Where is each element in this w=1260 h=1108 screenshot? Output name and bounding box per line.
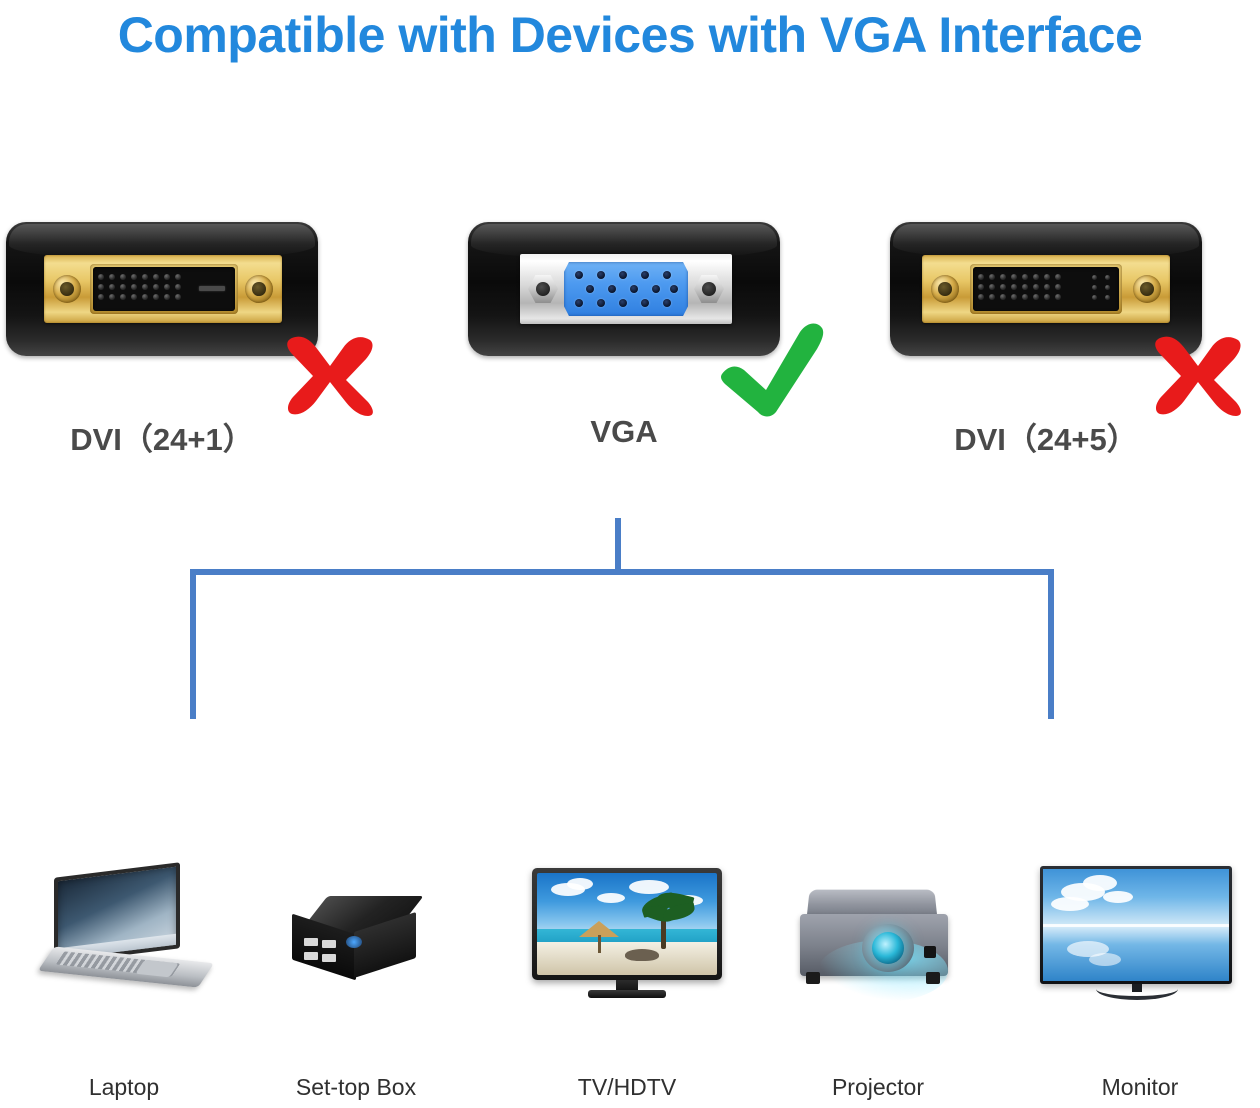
bracket-drop-right bbox=[1048, 569, 1054, 719]
device-laptop bbox=[32, 862, 216, 1002]
vga-dsub-port bbox=[564, 262, 688, 316]
usb-port-1 bbox=[304, 938, 318, 946]
page-title: Compatible with Devices with VGA Interfa… bbox=[0, 6, 1260, 64]
dvi-port bbox=[970, 264, 1122, 314]
tv-image-rock bbox=[625, 949, 659, 961]
device-label-set-top-box: Set-top Box bbox=[254, 1074, 458, 1101]
projector-ir-sensor bbox=[924, 946, 936, 958]
green-check-icon bbox=[716, 322, 826, 418]
device-label-laptop: Laptop bbox=[24, 1074, 224, 1101]
dvi-flange bbox=[922, 255, 1170, 323]
connector-vga: VGA bbox=[468, 222, 780, 356]
monitor-screen bbox=[1043, 869, 1229, 981]
usb-port-4 bbox=[322, 954, 336, 962]
vga-flange bbox=[520, 254, 732, 324]
connector-body bbox=[6, 222, 318, 356]
dvi-pin-grid bbox=[978, 274, 1061, 300]
infographic-root: Compatible with Devices with VGA Interfa… bbox=[0, 0, 1260, 1108]
connector-label-dvi-24-5: DVI（24+5） bbox=[890, 414, 1202, 459]
tv-stand-base bbox=[588, 990, 666, 998]
connector-dvi-24-1: DVI（24+1） bbox=[6, 222, 318, 356]
dvi-pin-grid bbox=[98, 274, 181, 300]
tv-bezel bbox=[532, 868, 722, 980]
monitor-image-horizon bbox=[1043, 924, 1229, 927]
tv-screen bbox=[537, 873, 717, 975]
usb-port-2 bbox=[322, 940, 336, 948]
screw-post-left bbox=[931, 275, 959, 303]
device-label-monitor: Monitor bbox=[1040, 1074, 1240, 1101]
dvi-analog-pin-cluster bbox=[1092, 275, 1110, 300]
monitor-stand-base bbox=[1096, 978, 1178, 1000]
projector-lens bbox=[872, 932, 904, 964]
screw-post-left bbox=[53, 275, 81, 303]
hex-post-right bbox=[694, 275, 724, 303]
dvi-blade-slot bbox=[199, 286, 225, 291]
red-cross-icon bbox=[280, 332, 380, 417]
dvi-flange bbox=[44, 255, 282, 323]
device-label-projector: Projector bbox=[778, 1074, 978, 1101]
bracket-drop-left bbox=[190, 569, 196, 719]
connector-dvi-24-5: DVI（24+5） bbox=[890, 222, 1202, 356]
device-monitor bbox=[1040, 866, 1236, 1006]
device-label-tv-hdtv: TV/HDTV bbox=[527, 1074, 727, 1101]
screw-post-right bbox=[1133, 275, 1161, 303]
usb-port-3 bbox=[304, 952, 318, 960]
connector-label-dvi-24-1: DVI（24+1） bbox=[6, 414, 318, 459]
red-cross-icon bbox=[1148, 332, 1248, 417]
device-set-top-box bbox=[284, 890, 428, 990]
dvi-port bbox=[90, 264, 238, 314]
monitor-bezel bbox=[1040, 866, 1232, 984]
hex-post-left bbox=[528, 275, 558, 303]
dvi-port-cavity bbox=[973, 267, 1119, 311]
dvi-port-cavity bbox=[93, 267, 235, 311]
device-tv-hdtv bbox=[532, 868, 722, 1004]
connector-label-vga: VGA bbox=[468, 414, 780, 450]
bracket-horizontal bbox=[190, 569, 1054, 575]
bracket-stem bbox=[615, 518, 621, 574]
set-top-box-indicator bbox=[346, 936, 362, 948]
device-projector bbox=[790, 888, 970, 998]
screw-post-right bbox=[245, 275, 273, 303]
